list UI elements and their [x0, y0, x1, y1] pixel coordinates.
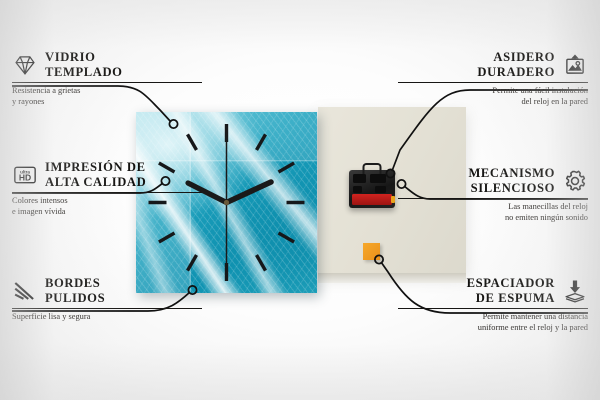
feature-subtitle: Permite una fácil instalación del reloj …: [398, 86, 588, 107]
divider: [398, 308, 588, 309]
hanging-picture-icon: [562, 52, 588, 78]
feature-bordes-pulidos[interactable]: BORDES PULIDOS Superficie lisa y segura: [12, 276, 202, 323]
mechanism-detail: [353, 174, 366, 183]
feature-espaciador-de-espuma[interactable]: ESPACIADOR DE ESPUMA Permite mantener un…: [398, 276, 588, 333]
feature-subtitle: Resistencia a grietas y rayones: [12, 86, 202, 107]
feature-subtitle: Superficie lisa y segura: [12, 312, 202, 322]
feature-asidero-duradero[interactable]: ASIDERO DURADERO Permite una fácil insta…: [398, 50, 588, 107]
mechanism-hook: [363, 163, 382, 174]
divider: [12, 308, 202, 309]
divider: [12, 192, 202, 193]
feature-title: MECANISMO SILENCIOSO: [468, 166, 555, 195]
mechanism-detail: [375, 186, 386, 193]
feature-subtitle: Colores intensos e imagen vívida: [12, 196, 202, 217]
foam-spacer: [363, 243, 380, 260]
infographic-canvas: VIDRIO TEMPLADO Resistencia a grietas y …: [0, 0, 600, 400]
feature-impresion-alta-calidad[interactable]: ultra HD IMPRESIÓN DE ALTA CALIDAD Color…: [12, 160, 202, 217]
gear-icon: [562, 168, 588, 194]
diagonal-lines-icon: [12, 278, 38, 304]
feature-subtitle: Permite mantener una distancia uniforme …: [398, 312, 588, 333]
feature-title: ASIDERO DURADERO: [477, 50, 555, 79]
feature-title: BORDES PULIDOS: [45, 276, 105, 305]
ultra-hd-main-label: HD: [19, 172, 31, 182]
divider: [398, 198, 588, 199]
feature-vidrio-templado[interactable]: VIDRIO TEMPLADO Resistencia a grietas y …: [12, 50, 202, 107]
diamond-icon: [12, 52, 38, 78]
feature-mecanismo-silencioso[interactable]: MECANISMO SILENCIOSO Las manecillas del …: [398, 166, 588, 223]
clock-mechanism: [349, 170, 395, 208]
mechanism-detail: [353, 186, 362, 193]
feature-subtitle: Las manecillas del reloj no emiten ningú…: [398, 202, 588, 223]
feature-title: VIDRIO TEMPLADO: [45, 50, 123, 79]
divider: [12, 82, 202, 83]
ultra-hd-icon: ultra HD: [12, 162, 38, 188]
feature-title: IMPRESIÓN DE ALTA CALIDAD: [45, 160, 146, 189]
battery: [352, 194, 392, 205]
arrow-down-layers-icon: [562, 278, 588, 304]
mechanism-detail: [370, 174, 386, 183]
feature-title: ESPACIADOR DE ESPUMA: [467, 276, 555, 305]
divider: [398, 82, 588, 83]
